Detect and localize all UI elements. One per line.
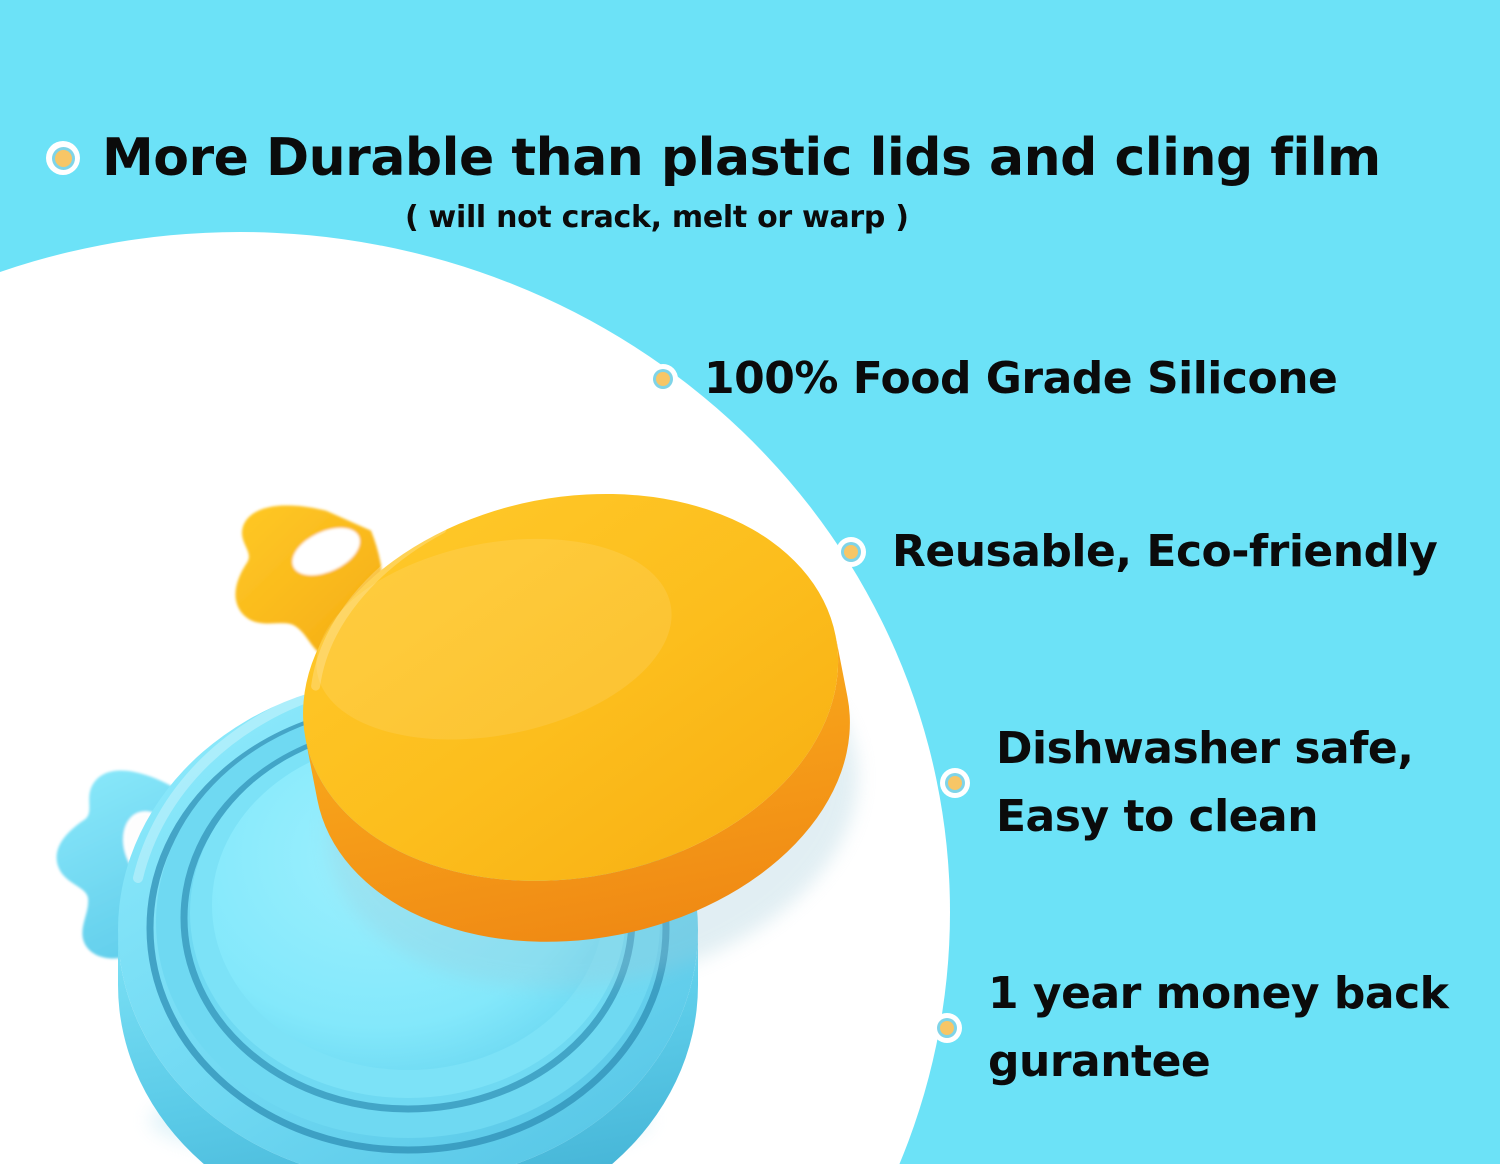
bullet-dot-icon <box>940 768 970 798</box>
bullet-dot-icon <box>648 364 678 394</box>
infographic-canvas: More Durable than plastic lids and cling… <box>0 0 1500 1164</box>
feature-item-dishwasher: Dishwasher safe, Easy to clean <box>940 715 1413 851</box>
feature-label: Reusable, Eco-friendly <box>892 518 1437 586</box>
feature-label-line1: Dishwasher safe, <box>996 723 1413 774</box>
feature-label-group: Dishwasher safe, Easy to clean <box>996 715 1413 851</box>
feature-label-group: 1 year money back gurantee <box>988 960 1448 1096</box>
feature-item-reusable: Reusable, Eco-friendly <box>836 518 1437 586</box>
feature-label-line2: Easy to clean <box>996 783 1413 851</box>
copy-layer: More Durable than plastic lids and cling… <box>0 0 1500 1164</box>
feature-label-line2: gurantee <box>988 1028 1448 1096</box>
bullet-dot-icon <box>836 537 866 567</box>
bullet-dot-icon <box>46 141 80 175</box>
headline: More Durable than plastic lids and cling… <box>46 128 1381 188</box>
feature-item-guarantee: 1 year money back gurantee <box>932 960 1448 1096</box>
bullet-dot-icon <box>932 1013 962 1043</box>
feature-label: 100% Food Grade Silicone <box>704 345 1337 413</box>
subheadline-text: ( will not crack, melt or warp ) <box>405 200 909 235</box>
feature-label-line1: 1 year money back <box>988 968 1448 1019</box>
feature-item-food-grade: 100% Food Grade Silicone <box>648 345 1337 413</box>
headline-text: More Durable than plastic lids and cling… <box>102 128 1381 188</box>
